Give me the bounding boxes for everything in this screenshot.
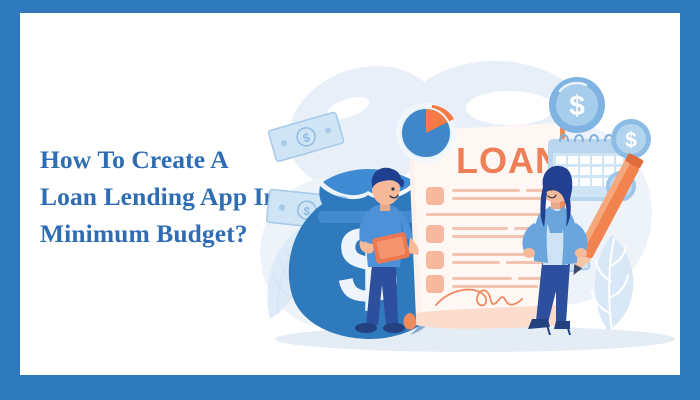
- loan-illustration: $ $ $: [260, 13, 680, 375]
- checkbox-4: [426, 275, 444, 293]
- checkbox-1: [426, 187, 444, 205]
- banner-frame: How To Create A Loan Lending App In Mini…: [0, 0, 700, 400]
- svg-text:$: $: [625, 129, 637, 152]
- checkbox-3: [426, 251, 444, 269]
- banner-card: How To Create A Loan Lending App In Mini…: [20, 13, 680, 375]
- checkbox-2: [426, 225, 444, 243]
- coin-large: $: [549, 77, 605, 133]
- pie-chart: [396, 103, 456, 163]
- svg-text:$: $: [569, 90, 585, 121]
- coin-medium: $: [611, 119, 651, 159]
